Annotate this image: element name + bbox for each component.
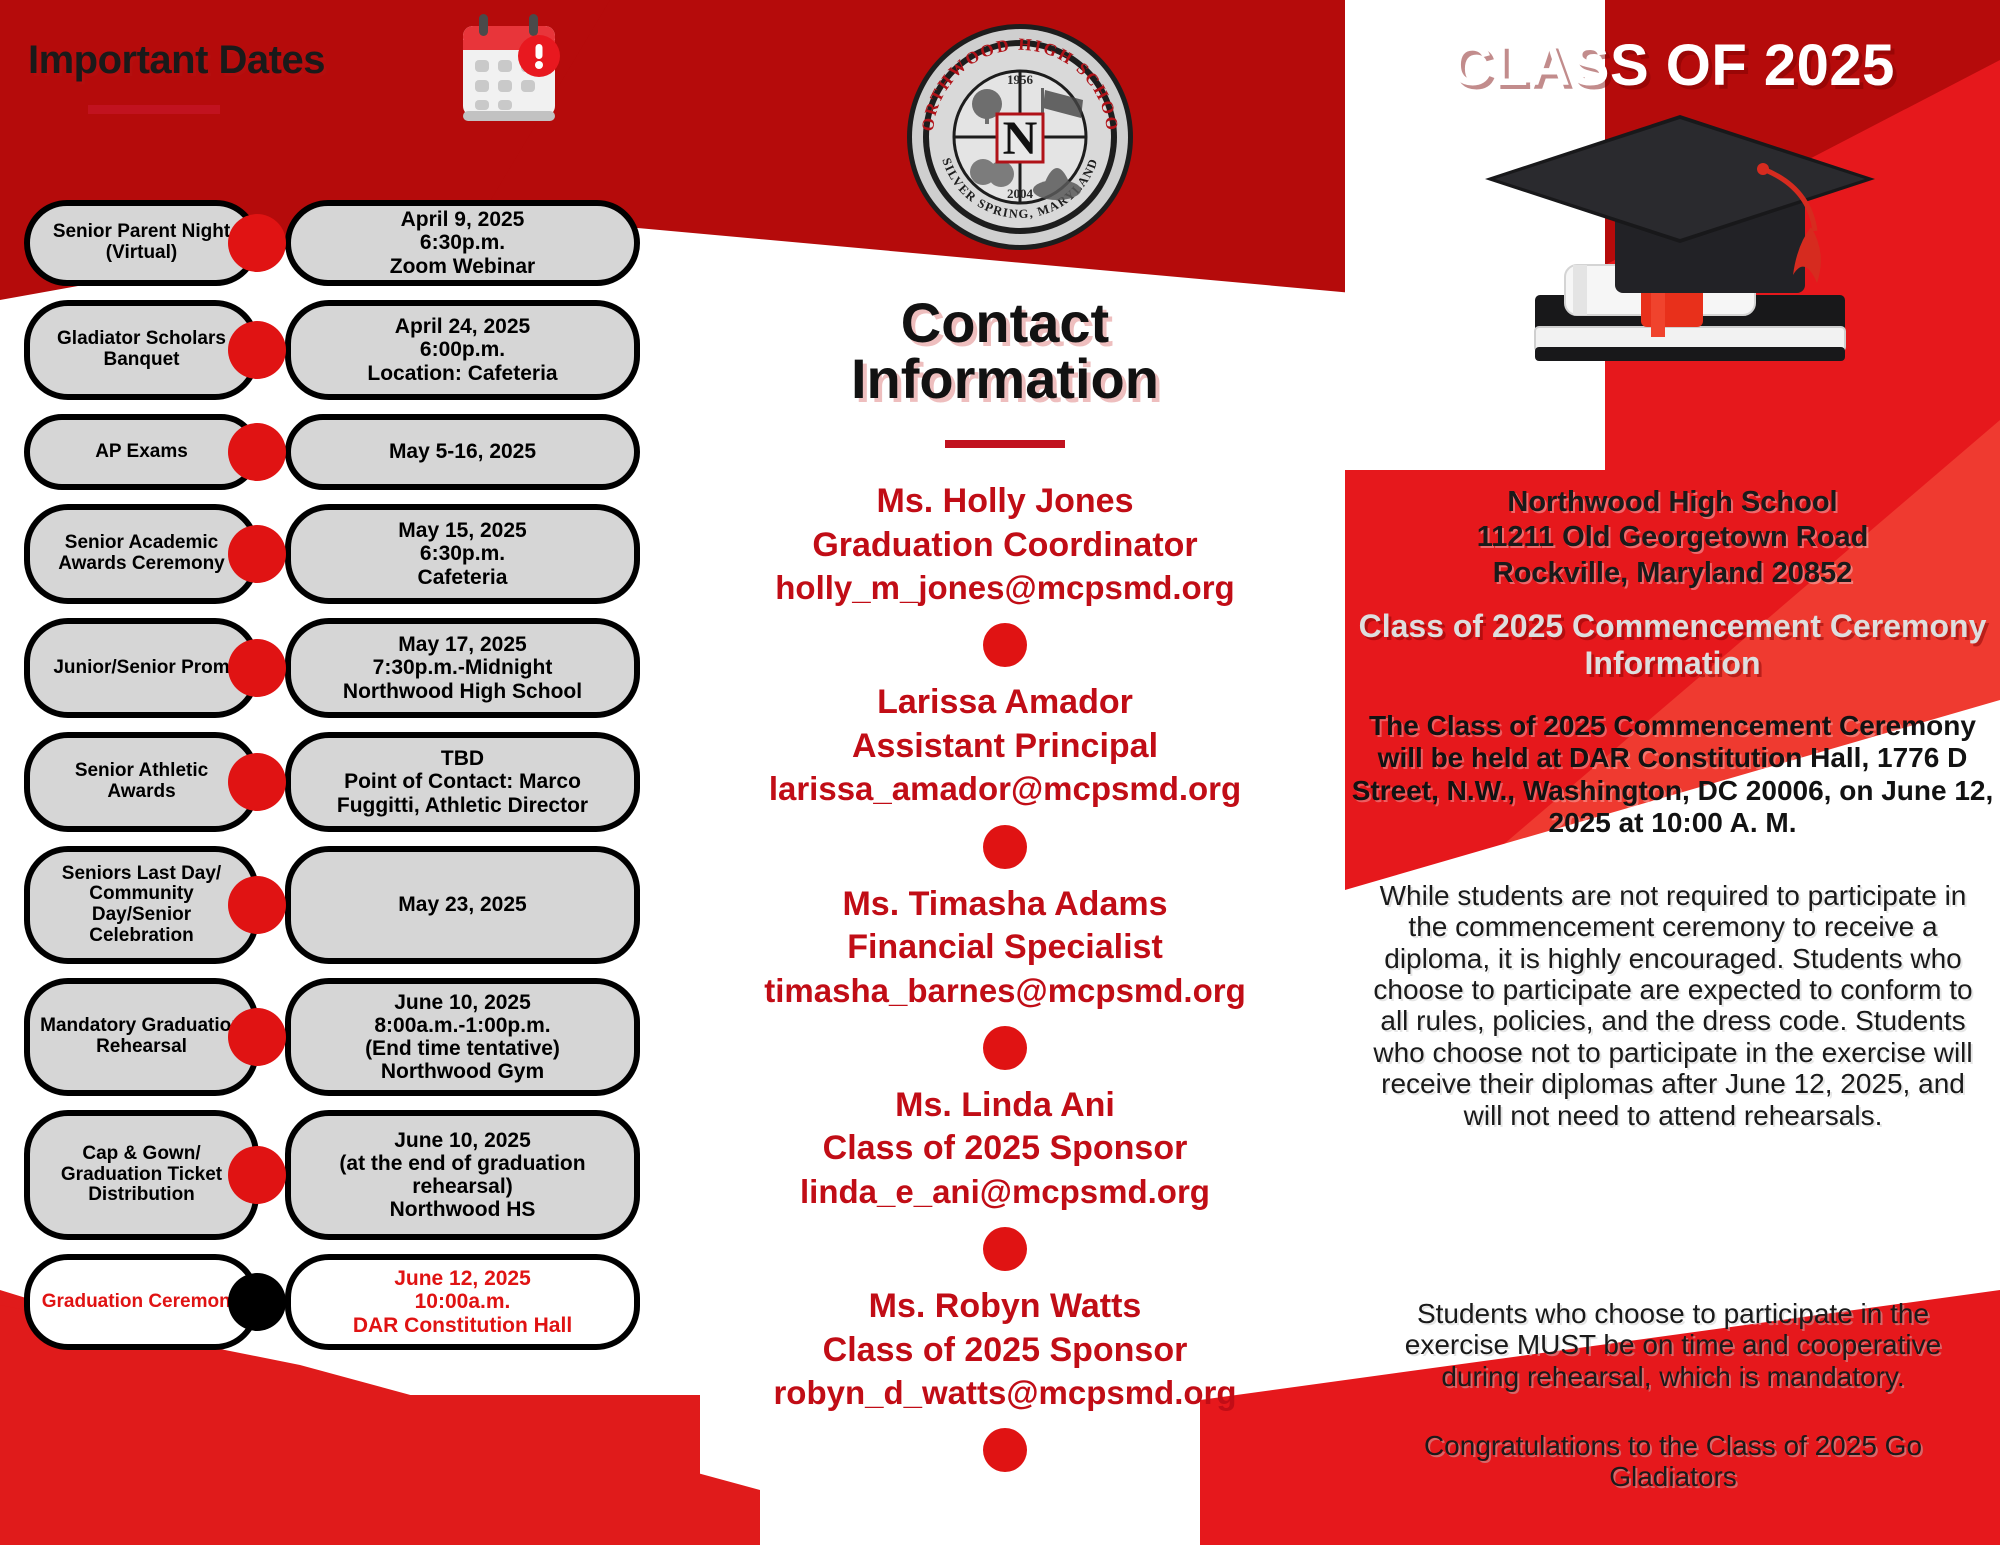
timeline-dot <box>228 639 286 697</box>
timeline-event-detail: June 10, 2025 (at the end of graduation … <box>285 1110 640 1240</box>
class-of-2025-title: CLASS OF 2025 <box>1345 32 2000 99</box>
timeline-dot <box>228 1146 286 1204</box>
school-seal-icon: NORTHWOOD HIGH SCHOOL SILVER SPRING, MAR… <box>905 22 1135 252</box>
svg-text:2004: 2004 <box>1007 186 1034 201</box>
rehearsal-paragraph: Students who choose to participate in th… <box>1373 1298 1973 1392</box>
timeline-row: Graduation CeremonyJune 12, 2025 10:00a.… <box>0 1254 660 1350</box>
contact-separator-dot <box>983 1428 1027 1472</box>
timeline-row: Cap & Gown/ Graduation Ticket Distributi… <box>0 1110 660 1240</box>
contact-entry: Ms. Linda AniClass of 2025 Sponsorlinda_… <box>660 1084 1350 1213</box>
timeline-event-label: Junior/Senior Prom <box>24 618 259 718</box>
school-name: Northwood High School <box>1345 485 2000 520</box>
timeline-event-label: Seniors Last Day/ Community Day/Senior C… <box>24 846 259 964</box>
timeline-event-detail: May 15, 2025 6:30p.m. Cafeteria <box>285 504 640 604</box>
contact-separator-dot <box>983 1026 1027 1070</box>
contact-email[interactable]: larissa_amador@mcpsmd.org <box>660 768 1350 810</box>
timeline-event-detail: April 9, 2025 6:30p.m. Zoom Webinar <box>285 200 640 286</box>
contact-separator-dot <box>983 825 1027 869</box>
important-dates-title: Important Dates <box>28 38 325 83</box>
contact-name: Ms. Timasha Adams <box>660 883 1350 927</box>
participation-paragraph: While students are not required to parti… <box>1373 880 1973 1131</box>
contact-title-line2: Information <box>660 351 1350 407</box>
contact-email[interactable]: timasha_barnes@mcpsmd.org <box>660 970 1350 1012</box>
svg-text:N: N <box>1003 112 1038 165</box>
timeline-row: Senior Academic Awards CeremonyMay 15, 2… <box>0 504 660 604</box>
contact-role: Financial Specialist <box>660 926 1350 970</box>
timeline-dot <box>228 321 286 379</box>
timeline-event-detail: TBD Point of Contact: Marco Fuggitti, At… <box>285 732 640 832</box>
timeline-row: Junior/Senior PromMay 17, 2025 7:30p.m.-… <box>0 618 660 718</box>
timeline-event-label: Graduation Ceremony <box>24 1254 259 1350</box>
important-dates-panel: Important Dates Se <box>0 0 660 1545</box>
timeline-row: Seniors Last Day/ Community Day/Senior C… <box>0 846 660 964</box>
contact-underline-rule <box>945 440 1065 448</box>
timeline-event-detail: May 17, 2025 7:30p.m.-Midnight Northwood… <box>285 618 640 718</box>
timeline-event-label: Cap & Gown/ Graduation Ticket Distributi… <box>24 1110 259 1240</box>
timeline-row: Gladiator Scholars BanquetApril 24, 2025… <box>0 300 660 400</box>
timeline-event-detail: May 5-16, 2025 <box>285 414 640 490</box>
address-line-1: 11211 Old Georgetown Road <box>1345 520 2000 555</box>
class-of-2025-panel: CLASS OF 2025 Northwood High School <box>1345 0 2000 1545</box>
timeline-event-label: Senior Parent Night (Virtual) <box>24 200 259 286</box>
timeline-dot <box>228 1008 286 1066</box>
timeline-row: Senior Parent Night (Virtual)April 9, 20… <box>0 200 660 286</box>
contact-information-panel: NORTHWOOD HIGH SCHOOL SILVER SPRING, MAR… <box>660 0 1350 1545</box>
timeline-event-detail: June 12, 2025 10:00a.m. DAR Constitution… <box>285 1254 640 1350</box>
timeline-row: Mandatory Graduation RehearsalJune 10, 2… <box>0 978 660 1096</box>
timeline-dot <box>228 525 286 583</box>
contact-entry: Ms. Robyn WattsClass of 2025 Sponsorroby… <box>660 1285 1350 1414</box>
timeline-dot <box>228 876 286 934</box>
contact-title: Contact Information <box>660 295 1350 407</box>
contact-email[interactable]: robyn_d_watts@mcpsmd.org <box>660 1372 1350 1414</box>
timeline-event-label: Senior Academic Awards Ceremony <box>24 504 259 604</box>
contact-email[interactable]: holly_m_jones@mcpsmd.org <box>660 567 1350 609</box>
school-address: Northwood High School 11211 Old Georgeto… <box>1345 485 2000 591</box>
contact-list: Ms. Holly JonesGraduation Coordinatorhol… <box>660 480 1350 1486</box>
svg-text:1956: 1956 <box>1007 72 1034 87</box>
contact-role: Class of 2025 Sponsor <box>660 1127 1350 1171</box>
commencement-detail: The Class of 2025 Commencement Ceremony … <box>1345 710 2000 840</box>
address-line-2: Rockville, Maryland 20852 <box>1345 556 2000 591</box>
commencement-heading: Class of 2025 Commencement Ceremony Info… <box>1345 608 2000 682</box>
timeline-event-detail: May 23, 2025 <box>285 846 640 964</box>
contact-entry: Ms. Timasha AdamsFinancial Specialisttim… <box>660 883 1350 1012</box>
timeline-dot <box>228 1273 286 1331</box>
contact-separator-dot <box>983 623 1027 667</box>
timeline-row: AP ExamsMay 5-16, 2025 <box>0 414 660 490</box>
timeline-event-label: Senior Athletic Awards <box>24 732 259 832</box>
contact-name: Larissa Amador <box>660 681 1350 725</box>
contact-name: Ms. Holly Jones <box>660 480 1350 524</box>
contact-name: Ms. Linda Ani <box>660 1084 1350 1128</box>
congratulations-paragraph: Congratulations to the Class of 2025 Go … <box>1373 1430 1973 1493</box>
timeline-event-detail: April 24, 2025 6:00p.m. Location: Cafete… <box>285 300 640 400</box>
contact-entry: Larissa AmadorAssistant Principallarissa… <box>660 681 1350 810</box>
graduation-cap-diploma-book-icon <box>1405 95 1945 395</box>
timeline-dot <box>228 214 286 272</box>
timeline-event-label: Mandatory Graduation Rehearsal <box>24 978 259 1096</box>
dates-timeline: Senior Parent Night (Virtual)April 9, 20… <box>0 200 660 1364</box>
contact-role: Graduation Coordinator <box>660 524 1350 568</box>
contact-role: Assistant Principal <box>660 725 1350 769</box>
contact-separator-dot <box>983 1227 1027 1271</box>
contact-title-line1: Contact <box>660 295 1350 351</box>
contact-entry: Ms. Holly JonesGraduation Coordinatorhol… <box>660 480 1350 609</box>
timeline-event-detail: June 10, 2025 8:00a.m.-1:00p.m. (End tim… <box>285 978 640 1096</box>
timeline-row: Senior Athletic AwardsTBD Point of Conta… <box>0 732 660 832</box>
title-underline-rule <box>88 105 220 114</box>
contact-name: Ms. Robyn Watts <box>660 1285 1350 1329</box>
timeline-event-label: Gladiator Scholars Banquet <box>24 300 259 400</box>
brochure-page: Important Dates Se <box>0 0 2000 1545</box>
calendar-alert-icon <box>455 12 565 127</box>
contact-role: Class of 2025 Sponsor <box>660 1329 1350 1373</box>
timeline-event-label: AP Exams <box>24 414 259 490</box>
timeline-dot <box>228 753 286 811</box>
timeline-dot <box>228 423 286 481</box>
contact-email[interactable]: linda_e_ani@mcpsmd.org <box>660 1171 1350 1213</box>
